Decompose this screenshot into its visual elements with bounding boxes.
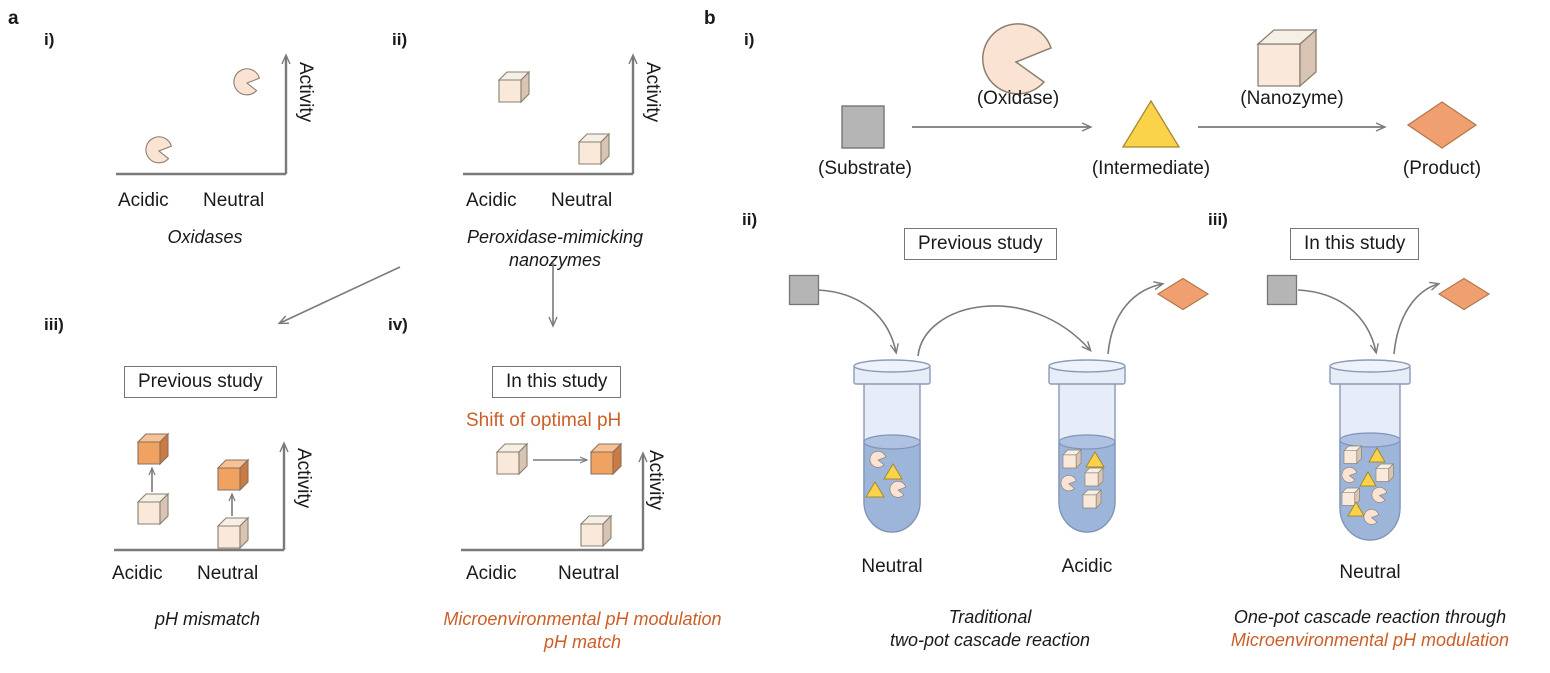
panel-a-iii-x-right: Neutral xyxy=(197,563,258,585)
panel-b-ii-badge-wrap: Previous study xyxy=(904,228,1057,260)
panel-a-iv-caption-line2: pH match xyxy=(410,631,755,654)
marker-pacman-acidic xyxy=(146,137,171,163)
panel-a-connectors xyxy=(255,255,585,345)
triangle-yellow-icon xyxy=(1123,101,1179,147)
panel-a-iv-caption: Microenvironmental pH modulation pH matc… xyxy=(410,608,755,655)
marker-cube-orange-neutral xyxy=(591,444,621,474)
panel-b-ii-caption: Traditional two-pot cascade reaction xyxy=(845,606,1135,653)
marker-cube-cream-acidic xyxy=(497,444,527,474)
tube-cap-top xyxy=(1330,360,1410,372)
panel-a-iii-x-left: Acidic xyxy=(112,563,163,585)
content-cube xyxy=(1376,464,1393,481)
b-i-arrow-2 xyxy=(1196,112,1394,142)
b-iii-flow-arrows xyxy=(1292,268,1452,368)
arrow-substrate-into-tube xyxy=(1298,290,1376,352)
panel-a-iii-roman: iii) xyxy=(44,315,64,335)
b-iii-tube-1-label: Neutral xyxy=(1316,562,1424,584)
content-cube xyxy=(1083,490,1101,508)
arrow-tube2-to-product xyxy=(1108,284,1162,354)
marker-pacman-neutral xyxy=(234,69,259,95)
marker-cube-cream-acidic xyxy=(138,494,168,524)
marker-cube-acidic xyxy=(499,72,529,102)
diamond-orange-icon xyxy=(1408,102,1476,148)
panel-b-iii-caption-line1: One-pot cascade reaction through xyxy=(1190,606,1550,629)
b-i-nanozyme-label: (Nanozyme) xyxy=(1218,88,1366,110)
panel-a-iv-x-left: Acidic xyxy=(466,563,517,585)
panel-b-ii-roman: ii) xyxy=(742,210,757,230)
panel-b-i-roman: i) xyxy=(744,30,754,50)
panel-a-ii-y-label: Activity xyxy=(641,62,663,122)
liquid-surface xyxy=(1340,433,1400,447)
panel-b-iii-caption: One-pot cascade reaction through Microen… xyxy=(1190,606,1550,653)
panel-b-iii-caption-line2: Microenvironmental pH modulation xyxy=(1190,629,1550,652)
b-i-nanozyme-shape xyxy=(1256,28,1318,90)
arrow-tube1-to-tube2 xyxy=(918,306,1090,356)
panel-b-ii-caption-line1: Traditional xyxy=(845,606,1135,629)
panel-b-letter: b xyxy=(704,8,716,30)
panel-a-i-x-right: Neutral xyxy=(203,190,264,212)
marker-cube-orange-neutral xyxy=(218,460,248,490)
panel-a-iv-caption-line1: Microenvironmental pH modulation xyxy=(410,608,755,631)
b-ii-tube-1 xyxy=(842,356,942,548)
panel-b-ii-caption-line2: two-pot cascade reaction xyxy=(845,629,1135,652)
panel-a-ii-x-right: Neutral xyxy=(551,190,612,212)
b-i-intermediate-label: (Intermediate) xyxy=(1081,158,1221,180)
panel-b-ii-badge[interactable]: Previous study xyxy=(904,228,1057,260)
panel-a-ii-x-left: Acidic xyxy=(466,190,517,212)
b-i-substrate-shape xyxy=(840,104,886,150)
marker-cube-cream-neutral xyxy=(218,518,248,548)
square-gray-icon xyxy=(842,106,884,148)
panel-a-iv-y-label: Activity xyxy=(644,450,666,510)
panel-a-iv-highlight: Shift of optimal pH xyxy=(466,410,621,432)
panel-a-iii-badge-wrap: Previous study xyxy=(124,366,277,398)
panel-a-i-caption: Oxidases xyxy=(100,226,310,249)
b-i-product-label: (Product) xyxy=(1382,158,1502,180)
panel-b-iii-badge-wrap: In this study xyxy=(1290,228,1419,260)
liquid-surface xyxy=(1059,435,1115,449)
panel-a-ii-caption-line1: Peroxidase-mimicking xyxy=(425,226,685,249)
panel-a-iv-x-right: Neutral xyxy=(558,563,619,585)
b-ii-tube-1-label: Neutral xyxy=(840,556,944,578)
arrow-tube-to-product xyxy=(1394,284,1438,354)
b-ii-tube-2 xyxy=(1037,356,1137,548)
panel-a-i-roman: i) xyxy=(44,30,54,50)
panel-b-iii-badge[interactable]: In this study xyxy=(1290,228,1419,260)
b-i-oxidase-label: (Oxidase) xyxy=(948,88,1088,110)
panel-a-iii-y-label: Activity xyxy=(292,448,314,508)
panel-a-iv-badge-wrap: In this study xyxy=(492,366,621,398)
panel-a-iv-badge[interactable]: In this study xyxy=(492,366,621,398)
liquid-surface xyxy=(864,435,920,449)
panel-a-iii-caption: pH mismatch xyxy=(100,608,315,631)
panel-a-iv-plot xyxy=(455,436,705,562)
tube-cap-top xyxy=(854,360,930,372)
tube-cap-top xyxy=(1049,360,1125,372)
arrow-substrate-into-tube1 xyxy=(818,290,896,352)
marker-cube-orange-acidic xyxy=(138,434,168,464)
panel-a-letter: a xyxy=(8,8,19,30)
arrow-diagonal-to-iii xyxy=(280,267,400,323)
pacman-icon xyxy=(983,24,1051,94)
b-ii-tube-2-label: Acidic xyxy=(1035,556,1139,578)
panel-a-ii-roman: ii) xyxy=(392,30,407,50)
b-i-intermediate-shape xyxy=(1120,98,1182,150)
panel-a-i-y-label: Activity xyxy=(294,62,316,122)
content-cube xyxy=(1344,446,1361,463)
marker-cube-cream-neutral xyxy=(581,516,611,546)
content-cube xyxy=(1085,468,1103,486)
content-cube xyxy=(1063,450,1081,468)
b-i-product-shape xyxy=(1406,100,1478,150)
panel-a-i-x-left: Acidic xyxy=(118,190,169,212)
b-i-substrate-label: (Substrate) xyxy=(810,158,920,180)
b-ii-flow-arrows xyxy=(812,268,1182,368)
marker-cube-neutral xyxy=(579,134,609,164)
b-i-arrow-1 xyxy=(910,112,1100,142)
panel-a-iii-badge[interactable]: Previous study xyxy=(124,366,277,398)
panel-b-iii-roman: iii) xyxy=(1208,210,1228,230)
panel-a-iv-roman: iv) xyxy=(388,315,408,335)
b-iii-tube-1 xyxy=(1318,356,1422,556)
